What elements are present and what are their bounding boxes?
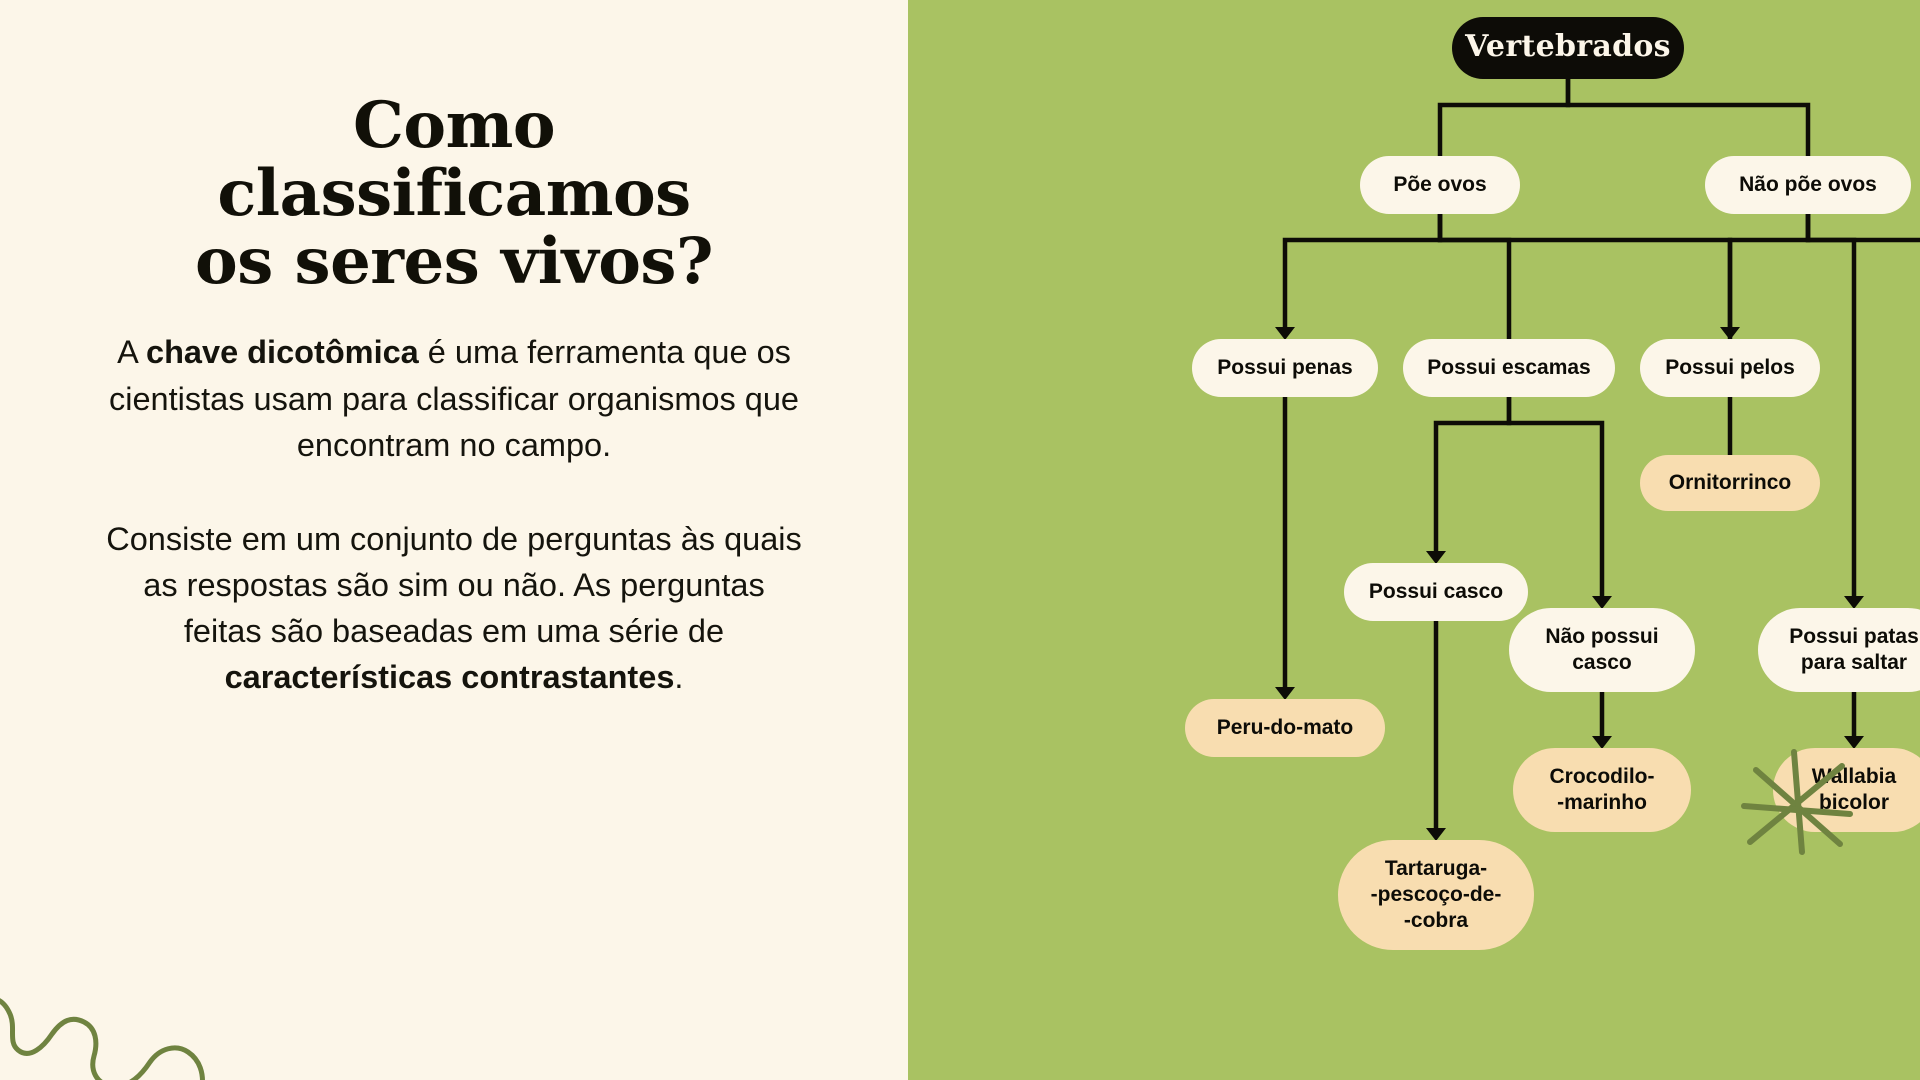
node-label-peru-do-mato: Peru-do-mato <box>1217 716 1354 739</box>
edge-nao-poe-ovos-to-possui-pelos <box>1730 214 1808 339</box>
node-ornitorrinco[interactable]: Ornitorrinco <box>1640 455 1820 511</box>
node-peru-do-mato[interactable]: Peru-do-mato <box>1185 699 1385 757</box>
paragraph-2-text-before: Consiste em um conjunto de perguntas às … <box>106 521 802 649</box>
node-possui-escamas[interactable]: Possui escamas <box>1403 339 1615 397</box>
paragraph-2-text-after: . <box>674 659 683 695</box>
page-title-line-1: Como <box>195 92 713 160</box>
arrowhead-nao-possui-casco <box>1592 596 1612 609</box>
diagram-panel: VertebradosPõe ovosNão põe ovosPossui pe… <box>908 0 1920 1080</box>
intro-paragraph-1: A chave dicotômica é uma ferramenta que … <box>104 329 804 467</box>
edge-nao-poe-ovos-to-patas-saltar <box>1808 214 1854 597</box>
node-possui-casco[interactable]: Possui casco <box>1344 563 1528 621</box>
arrowhead-peru-do-mato <box>1275 687 1295 700</box>
node-crocodilo[interactable]: Crocodilo--marinho <box>1513 748 1691 832</box>
dichotomous-key-diagram: VertebradosPõe ovosNão põe ovosPossui pe… <box>908 0 1920 1080</box>
node-label-possui-pelos: Possui pelos <box>1665 356 1795 379</box>
arrowhead-crocodilo <box>1592 736 1612 749</box>
arrowhead-possui-casco <box>1426 551 1446 564</box>
node-layer: VertebradosPõe ovosNão põe ovosPossui pe… <box>1185 17 1920 950</box>
node-nao-poe-ovos[interactable]: Não põe ovos <box>1705 156 1911 214</box>
node-label-poe-ovos: Põe ovos <box>1393 173 1486 196</box>
edge-poe-ovos-to-possui-penas <box>1285 214 1440 328</box>
node-possui-pelos[interactable]: Possui pelos <box>1640 339 1820 397</box>
edge-possui-escamas-to-nao-possui-casco <box>1509 397 1602 597</box>
intro-panel: Como classificamos os seres vivos? A cha… <box>0 0 908 1080</box>
node-label-root: Vertebrados <box>1464 29 1671 64</box>
node-label-possui-escamas: Possui escamas <box>1427 356 1590 379</box>
node-label-nao-poe-ovos: Não põe ovos <box>1739 173 1877 196</box>
edge-poe-ovos-to-possui-escamas <box>1440 214 1509 339</box>
edge-root-to-poe-ovos <box>1440 79 1568 156</box>
arrowhead-tartaruga <box>1426 828 1446 841</box>
paragraph-2-emphasis: características contrastantes <box>225 659 675 695</box>
edge-poe-ovos-to-possui-pelos <box>1440 214 1730 328</box>
page-title-line-2: classificamos <box>195 160 713 228</box>
paragraph-1-text-before: A <box>117 334 146 370</box>
arrowhead-wallabia <box>1844 736 1864 749</box>
node-label-ornitorrinco: Ornitorrinco <box>1669 471 1792 494</box>
node-label-possui-casco: Possui casco <box>1369 580 1503 603</box>
node-possui-penas[interactable]: Possui penas <box>1192 339 1378 397</box>
arrowhead-patas-saltar <box>1844 596 1864 609</box>
edge-possui-escamas-to-possui-casco <box>1436 397 1509 552</box>
intro-paragraph-2: Consiste em um conjunto de perguntas às … <box>104 516 804 701</box>
node-nao-possui-casco[interactable]: Não possuicasco <box>1509 608 1695 692</box>
node-label-possui-penas: Possui penas <box>1217 356 1352 379</box>
node-poe-ovos[interactable]: Põe ovos <box>1360 156 1520 214</box>
node-patas-saltar[interactable]: Possui pataspara saltar <box>1758 608 1920 692</box>
squiggle-decoration-icon <box>0 938 216 1080</box>
edge-root-to-nao-poe-ovos <box>1568 79 1808 156</box>
paragraph-1-emphasis: chave dicotômica <box>146 334 419 370</box>
page-title-line-3: os seres vivos? <box>195 228 713 296</box>
node-tartaruga[interactable]: Tartaruga--pescoço-de--cobra <box>1338 840 1534 950</box>
node-root[interactable]: Vertebrados <box>1452 17 1684 79</box>
node-wallabia[interactable]: Wallabiabicolor <box>1773 748 1920 832</box>
arrowhead-possui-penas <box>1275 327 1295 340</box>
page-title: Como classificamos os seres vivos? <box>195 92 713 295</box>
